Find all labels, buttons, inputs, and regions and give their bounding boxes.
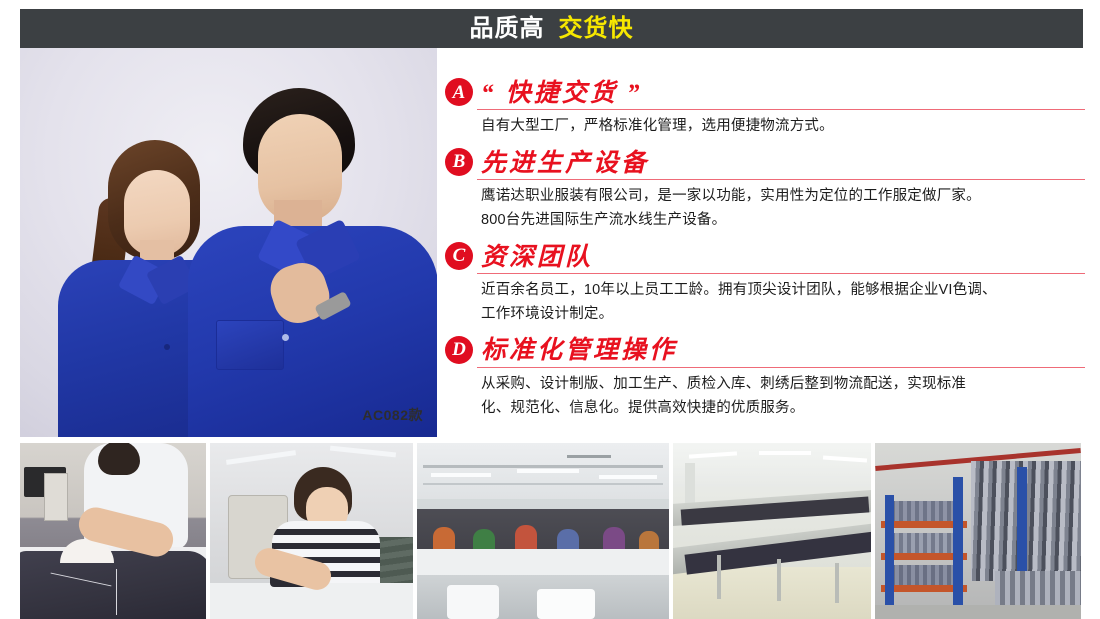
ceiling — [673, 443, 871, 487]
packed-goods — [887, 565, 961, 585]
feature-badge-c: C — [445, 242, 473, 270]
feature-badge-d: D — [445, 336, 473, 364]
conveyor-leg — [835, 563, 839, 603]
promo-page: 品质高 交货快 AC082款 A “ 快捷交货 ” — [0, 0, 1100, 619]
packed-goods — [887, 501, 961, 521]
header-title-accent: 交货快 — [559, 17, 634, 41]
ceiling-fan — [567, 455, 611, 458]
feature-title: “ 快捷交货 ” — [481, 81, 643, 107]
factory-photo-sewing-operator — [210, 443, 413, 619]
feature-header: A “ 快捷交货 ” — [445, 78, 1085, 110]
fluorescent-tube — [599, 475, 657, 479]
feature-badge-b: B — [445, 148, 473, 176]
feature-divider — [477, 109, 1085, 110]
feature-body-line: 化、规范化、信息化。提供高效快捷的优质服务。 — [481, 397, 1085, 421]
rack-upright — [885, 495, 894, 619]
ceiling-beam — [423, 465, 663, 468]
feature-body: 自有大型工厂，严格标准化管理，选用便捷物流方式。 — [481, 115, 1085, 139]
factory-photo-warehouse — [875, 443, 1081, 619]
male-model-chest-pocket — [216, 320, 284, 370]
feature-title: 标准化管理操作 — [481, 338, 677, 364]
feature-header: B 先进生产设备 — [445, 148, 1085, 180]
feature-body: 近百余名员工，10年以上员工工龄。拥有顶尖设计团队，能够根据企业VI色调、 工作… — [481, 279, 1085, 327]
garment-bundle — [537, 589, 595, 619]
feature-item: A “ 快捷交货 ” 自有大型工厂，严格标准化管理，选用便捷物流方式。 — [445, 78, 1085, 139]
feature-item: B 先进生产设备 鹰诺达职业服装有限公司，是一家以功能，实用性为定位的工作服定做… — [445, 148, 1085, 233]
feature-item: D 标准化管理操作 从采购、设计制版、加工生产、质检入库、刺绣后整到物流配送，实… — [445, 336, 1085, 421]
garment-bundle — [447, 585, 499, 619]
male-model-pocket-button — [282, 334, 289, 341]
computer-tower — [44, 473, 68, 521]
header-banner: 品质高 交货快 — [20, 9, 1083, 48]
feature-body-line: 工作环境设计制定。 — [481, 303, 1085, 327]
feature-body: 从采购、设计制版、加工生产、质检入库、刺绣后整到物流配送，实现标准 化、规范化、… — [481, 373, 1085, 421]
product-code-label: AC082款 — [362, 405, 423, 425]
fluorescent-tube — [431, 473, 491, 477]
feature-body-line: 从采购、设计制版、加工生产、质检入库、刺绣后整到物流配送，实现标准 — [481, 373, 1085, 397]
chalk-mark — [116, 569, 117, 615]
conveyor-leg — [717, 555, 721, 599]
female-model-button — [164, 344, 170, 350]
worker-head — [98, 443, 140, 475]
feature-title: 先进生产设备 — [481, 151, 649, 177]
feature-body: 鹰诺达职业服装有限公司，是一家以功能，实用性为定位的工作服定做厂家。 800台先… — [481, 185, 1085, 233]
fluorescent-tube — [759, 451, 811, 455]
packed-goods — [887, 533, 961, 553]
warehouse-floor — [875, 605, 1081, 619]
header-title-main: 品质高 — [470, 17, 545, 41]
conveyor-leg — [777, 559, 781, 601]
hero-product-photo: AC082款 — [20, 48, 437, 437]
feature-badge-a: A — [445, 78, 473, 106]
feature-divider — [477, 367, 1085, 368]
factory-photo-conveyor-line — [673, 443, 871, 619]
feature-item: C 资深团队 近百余名员工，10年以上员工工龄。拥有顶尖设计团队，能够根据企业V… — [445, 242, 1085, 327]
feature-title: 资深团队 — [481, 245, 593, 271]
factory-photo-sewing-floor — [417, 443, 669, 619]
feature-body-line: 自有大型工厂，严格标准化管理，选用便捷物流方式。 — [481, 115, 1085, 139]
feature-body-line: 近百余名员工，10年以上员工工龄。拥有顶尖设计团队，能够根据企业VI色调、 — [481, 279, 1085, 303]
feature-body-line: 800台先进国际生产流水线生产设备。 — [481, 209, 1085, 233]
factory-photo-strip — [20, 443, 1083, 619]
rack-upright — [953, 477, 963, 619]
feature-body-line: 鹰诺达职业服装有限公司，是一家以功能，实用性为定位的工作服定做厂家。 — [481, 185, 1085, 209]
factory-floor — [673, 567, 871, 619]
feature-divider — [477, 179, 1085, 180]
fluorescent-tube — [517, 469, 579, 473]
factory-photo-cutting — [20, 443, 206, 619]
feature-divider — [477, 273, 1085, 274]
feature-header: D 标准化管理操作 — [445, 336, 1085, 368]
ceiling-beam — [423, 483, 663, 485]
feature-header: C 资深团队 — [445, 242, 1085, 274]
feature-list: A “ 快捷交货 ” 自有大型工厂，严格标准化管理，选用便捷物流方式。 B 先进… — [445, 78, 1085, 429]
